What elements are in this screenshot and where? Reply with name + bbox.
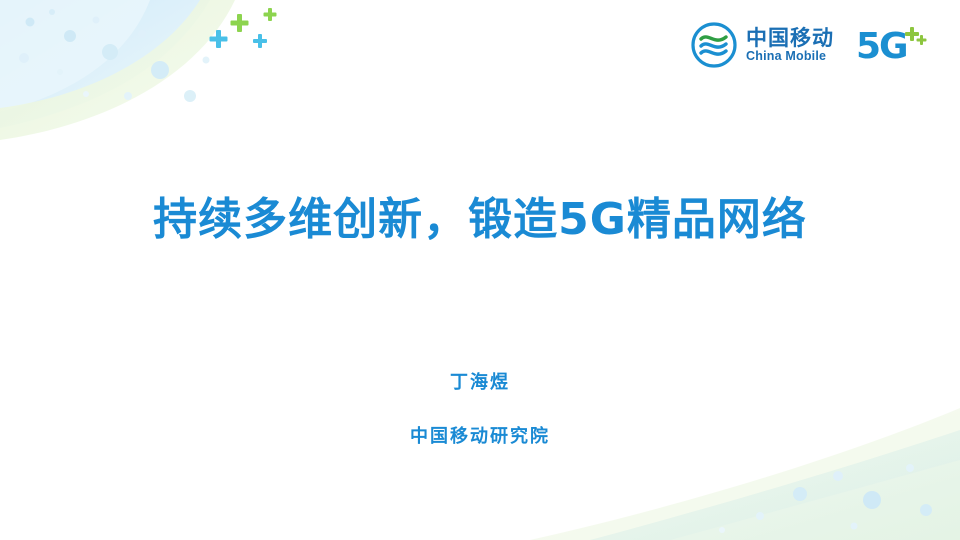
5g-plus-logo-icon: 5 G xyxy=(856,22,934,68)
logo-area: 中国移动 China Mobile 5 G xyxy=(691,22,934,68)
china-mobile-mark-icon xyxy=(691,22,737,68)
china-mobile-en-text: China Mobile xyxy=(746,50,834,63)
china-mobile-logo: 中国移动 China Mobile xyxy=(691,22,834,68)
title-slide: 中国移动 China Mobile 5 G 持续多维创新，锻造5G精品网络 丁海… xyxy=(0,0,960,540)
decorative-graphic-top-left xyxy=(0,0,420,170)
decorative-graphic-bottom-right xyxy=(440,390,960,540)
china-mobile-wordmark: 中国移动 China Mobile xyxy=(746,27,834,63)
presenter-name: 丁海煜 xyxy=(0,368,960,394)
page-title: 持续多维创新，锻造5G精品网络 xyxy=(0,183,960,247)
svg-text:5: 5 xyxy=(856,26,881,67)
china-mobile-cn-text: 中国移动 xyxy=(746,27,834,49)
organization-name: 中国移动研究院 xyxy=(0,422,960,448)
svg-text:G: G xyxy=(879,26,909,67)
